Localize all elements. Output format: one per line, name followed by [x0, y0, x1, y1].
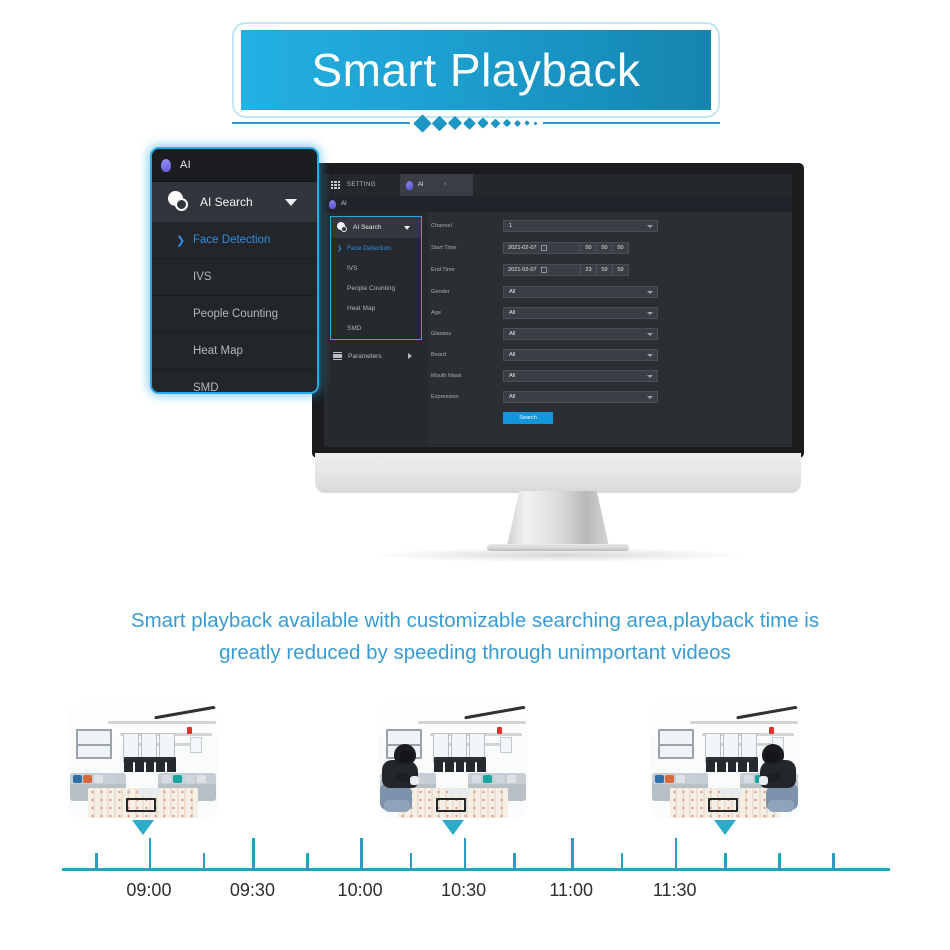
- deco-diamond-2: [431, 115, 447, 131]
- end-time-label: End Time: [428, 267, 503, 273]
- start-time-label: Start Time: [428, 245, 503, 251]
- breadcrumb-label: AI: [341, 201, 347, 207]
- ai-oval-icon: [329, 200, 336, 209]
- sidebar-ai-search-row[interactable]: AI Search: [331, 217, 421, 238]
- timeline-label-0930: 09:30: [230, 880, 275, 901]
- gender-value: All: [509, 289, 515, 295]
- timeline-major-tick-4: [464, 838, 467, 868]
- timeline-label-0900: 09:00: [126, 880, 171, 901]
- channel-value: 1: [509, 223, 512, 229]
- screen-sidebar-item-label: Heat Map: [347, 305, 375, 312]
- deco-diamond-7: [502, 119, 510, 127]
- callout-header: AI: [152, 149, 317, 182]
- chevron-down-icon: [647, 333, 653, 336]
- expression-value: All: [509, 394, 515, 400]
- end-date-value: 2021-02-07: [508, 267, 537, 273]
- timeline-minor-tick-6: [724, 853, 727, 868]
- nvr-screen: SETTING AI × AI AI Search: [324, 174, 792, 447]
- age-label: Age: [428, 310, 503, 316]
- screen-sidebar-item-label: Face Detection: [347, 245, 391, 252]
- deco-diamonds: [410, 117, 543, 130]
- timeline-label-1000: 10:00: [338, 880, 383, 901]
- deco-diamond-3: [447, 116, 461, 130]
- timeline-minor-tick-4: [513, 853, 516, 868]
- start-time-control[interactable]: 2021-02-07 00 00 00: [503, 242, 658, 254]
- form-row-beard: BeardAll: [428, 347, 658, 363]
- start-second-field[interactable]: 00: [613, 242, 629, 254]
- end-time-control[interactable]: 2021-02-07 23 59 59: [503, 264, 658, 276]
- intruder-figure: [380, 744, 426, 814]
- callout-item-label: SMD: [193, 382, 219, 394]
- caption-line-1: Smart playback available with customizab…: [40, 605, 910, 637]
- callout-item-people-counting[interactable]: People Counting: [152, 296, 317, 333]
- ai-oval-icon: [406, 181, 413, 190]
- list-icon: [333, 352, 342, 360]
- glasses-select[interactable]: All: [503, 328, 658, 340]
- deco-diamond-9: [524, 120, 530, 126]
- screen-sidebar-item-label: People Counting: [347, 285, 395, 292]
- chevron-down-icon: [647, 354, 653, 357]
- beard-value: All: [509, 352, 515, 358]
- timeline-axis[interactable]: 09:0009:3010:0010:3011:0011:30: [62, 868, 890, 871]
- callout-item-label: Heat Map: [193, 345, 243, 357]
- close-icon[interactable]: ×: [443, 182, 447, 188]
- caption: Smart playback available with customizab…: [40, 605, 910, 669]
- timeline-major-tick-3: [360, 838, 363, 868]
- ai-oval-icon: [161, 159, 171, 172]
- callout-item-heat-map[interactable]: Heat Map: [152, 333, 317, 370]
- screen-sidebar-item-heat-map[interactable]: Heat Map: [331, 298, 421, 318]
- deco-diamond-4: [463, 117, 476, 130]
- chevron-down-icon: [647, 291, 653, 294]
- glasses-label: Glasses: [428, 331, 503, 337]
- deco-diamond-8: [513, 119, 520, 126]
- timeline-label-1030: 10:30: [441, 880, 486, 901]
- chevron-down-icon: [647, 375, 653, 378]
- monitor-shadow: [372, 548, 744, 562]
- timeline-minor-tick-3: [410, 853, 413, 868]
- caption-line-2: greatly reduced by speeding through unim…: [40, 637, 910, 669]
- form-row-end-time: End Time 2021-02-07 23 59 59: [428, 262, 658, 278]
- end-second-field[interactable]: 59: [613, 264, 629, 276]
- thumbnail-intruder-left[interactable]: [378, 703, 528, 818]
- beard-select[interactable]: All: [503, 349, 658, 361]
- deco-line-right: [543, 122, 721, 124]
- callout-item-label: People Counting: [193, 308, 278, 320]
- screen-sidebar-item-ivs[interactable]: IVS: [331, 258, 421, 278]
- callout-menu-items: ❯Face DetectionIVSPeople CountingHeat Ma…: [152, 222, 317, 394]
- age-select[interactable]: All: [503, 307, 658, 319]
- callout-item-face-detection[interactable]: ❯Face Detection: [152, 222, 317, 259]
- deco-diamond-5: [477, 117, 488, 128]
- intruder-figure: [752, 744, 798, 814]
- glasses-value: All: [509, 331, 515, 337]
- timeline-label-1130: 11:30: [653, 880, 697, 901]
- setting-label[interactable]: SETTING: [347, 182, 376, 188]
- chevron-down-icon: [647, 225, 653, 228]
- screen-sidebar-item-people-counting[interactable]: People Counting: [331, 278, 421, 298]
- form-row-start-time: Start Time 2021-02-07 00 00 00: [428, 240, 658, 256]
- timeline-pointer-2: [442, 820, 464, 835]
- form-row-expression: ExpressionAll: [428, 389, 658, 405]
- timeline-pointer-1: [132, 820, 154, 835]
- form-row-channel: Channel 1: [428, 218, 658, 234]
- thumbnail-empty-room[interactable]: [68, 703, 218, 818]
- timeline-label-1100: 11:00: [549, 880, 593, 901]
- tab-ai-label: AI: [418, 182, 424, 188]
- sidebar-ai-search-label: AI Search: [353, 224, 382, 231]
- timeline-minor-tick-7: [778, 853, 781, 868]
- apps-grid-icon[interactable]: [331, 181, 340, 190]
- sidebar-parameters-label: Parameters: [348, 353, 382, 360]
- face-search-icon: [337, 222, 348, 233]
- page-title: Smart Playback: [241, 30, 711, 110]
- chevron-right-icon: [408, 353, 412, 359]
- start-date-field[interactable]: 2021-02-07: [503, 242, 581, 254]
- monitor-mockup: SETTING AI × AI AI Search: [312, 163, 804, 563]
- room-scene: [68, 703, 218, 818]
- screen-sidebar-item-smd[interactable]: SMD: [331, 318, 421, 338]
- face-search-icon: [168, 191, 190, 213]
- callout-item-label: IVS: [193, 271, 212, 283]
- channel-label: Channel: [428, 223, 503, 229]
- screen-sidebar-item-label: SMD: [347, 325, 361, 332]
- timeline-major-tick-1: [149, 838, 152, 868]
- timeline-minor-tick-5: [621, 853, 624, 868]
- start-hour-field[interactable]: 00: [581, 242, 597, 254]
- expression-label: Expression: [428, 394, 503, 400]
- screen-sidebar: AI Search ❯Face DetectionIVSPeople Count…: [324, 212, 428, 447]
- form-row-age: AgeAll: [428, 305, 658, 321]
- timeline-major-tick-5: [571, 838, 574, 868]
- timeline-major-tick-6: [675, 838, 678, 868]
- chevron-right-icon: ❯: [337, 245, 342, 252]
- mouth-mask-value: All: [509, 373, 515, 379]
- chevron-right-icon: ❯: [176, 234, 185, 247]
- screen-sidebar-item-face-detection[interactable]: ❯Face Detection: [331, 238, 421, 258]
- end-hour-field[interactable]: 23: [581, 264, 597, 276]
- timeline-major-tick-2: [252, 838, 255, 868]
- beard-label: Beard: [428, 352, 503, 358]
- deco-line-left: [232, 122, 410, 124]
- thumbnail-intruder-right[interactable]: [650, 703, 800, 818]
- calendar-icon[interactable]: [541, 267, 547, 273]
- gender-select[interactable]: All: [503, 286, 658, 298]
- monitor-stand-neck: [507, 491, 609, 546]
- sidebar-item-parameters[interactable]: Parameters: [324, 346, 428, 366]
- callout-item-smd[interactable]: SMD: [152, 370, 317, 394]
- mouth-mask-select[interactable]: All: [503, 370, 658, 382]
- tab-ai[interactable]: AI ×: [400, 174, 473, 196]
- search-form: Channel 1 Start Time 2021-02-07 00: [428, 212, 792, 447]
- chevron-down-icon: [647, 312, 653, 315]
- deco-diamond-6: [490, 118, 500, 128]
- callout-ai-search-row[interactable]: AI Search: [152, 182, 317, 222]
- form-row-gender: GenderAll: [428, 284, 658, 300]
- search-button[interactable]: Search: [503, 412, 553, 424]
- start-date-value: 2021-02-07: [508, 245, 537, 251]
- form-row-glasses: GlassesAll: [428, 326, 658, 342]
- mouth-mask-label: Mouth Mask: [428, 373, 503, 379]
- monitor-chin: [315, 453, 801, 493]
- calendar-icon[interactable]: [541, 245, 547, 251]
- callout-header-label: AI: [180, 159, 191, 171]
- expression-select[interactable]: All: [503, 391, 658, 403]
- age-value: All: [509, 310, 515, 316]
- breadcrumb: AI: [324, 196, 792, 212]
- screen-tabbar: SETTING AI ×: [324, 174, 792, 197]
- deco-diamond-1: [413, 114, 431, 132]
- callout-item-ivs[interactable]: IVS: [152, 259, 317, 296]
- timeline-minor-tick-8: [832, 853, 835, 868]
- end-date-field[interactable]: 2021-02-07: [503, 264, 581, 276]
- monitor-bezel: SETTING AI × AI AI Search: [312, 163, 804, 458]
- timeline-minor-tick-9: [95, 853, 98, 868]
- timeline-pointer-3: [714, 820, 736, 835]
- chevron-down-icon: [647, 396, 653, 399]
- timeline-minor-tick-1: [203, 853, 206, 868]
- decorative-diamond-row: [232, 110, 720, 136]
- timeline-minor-tick-2: [306, 853, 309, 868]
- magnified-menu-callout: AI AI Search ❯Face DetectionIVSPeople Co…: [150, 147, 319, 394]
- channel-select[interactable]: 1: [503, 220, 658, 232]
- end-minute-field[interactable]: 59: [597, 264, 613, 276]
- start-minute-field[interactable]: 00: [597, 242, 613, 254]
- form-row-mouth-mask: Mouth MaskAll: [428, 368, 658, 384]
- callout-item-label: Face Detection: [193, 234, 270, 246]
- screen-sidebar-item-label: IVS: [347, 265, 357, 272]
- gender-label: Gender: [428, 289, 503, 295]
- caret-down-icon[interactable]: [285, 199, 297, 206]
- callout-ai-search-label: AI Search: [200, 195, 253, 209]
- caret-down-icon[interactable]: [404, 226, 410, 230]
- deco-diamond-10: [533, 121, 537, 125]
